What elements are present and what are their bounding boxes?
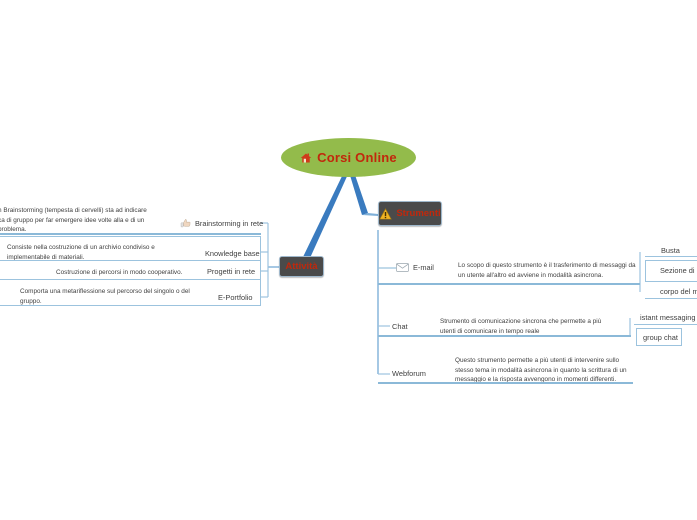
leaf-istant-messaging-label: istant messaging (640, 313, 695, 322)
central-node-label: Corsi Online (317, 150, 397, 165)
leaf-group-chat[interactable]: group chat (643, 333, 678, 342)
istant-messaging-rule (634, 324, 697, 325)
knowledge-base-rule (0, 260, 261, 261)
warning-icon (379, 208, 392, 220)
chat-description: Strumento di comunicazione sincrona che … (440, 317, 610, 336)
email-description: Lo scopo di questo strumento è il trasfe… (458, 261, 640, 280)
progetti-in-rete-rule (0, 279, 261, 280)
chat-rule (378, 335, 631, 337)
branch-node-attivita-label: Attività (285, 261, 317, 272)
branch-node-strumenti-label: Strumenti (396, 208, 440, 219)
branch-node-strumenti[interactable]: Strumenti (378, 201, 442, 226)
leaf-corpo-del-messaggio-label: corpo del m (660, 287, 697, 296)
leaf-progetti-in-rete-label: Progetti in rete (207, 267, 255, 276)
leaf-brainstorming-in-rete[interactable]: Brainstorming in rete (180, 218, 263, 229)
leaf-e-portfolio-label: E-Portfolio (218, 293, 253, 302)
leaf-sezione-di-intestazione[interactable]: Sezione di i (660, 266, 697, 275)
leaf-group-chat-label: group chat (643, 333, 678, 342)
leaf-knowledge-base-label: Knowledge base (205, 249, 260, 258)
email-rule (378, 283, 640, 285)
connector-central-attivita (303, 172, 349, 258)
leaf-email[interactable]: E-mail (396, 263, 434, 272)
leaf-busta-label: Busta (661, 246, 680, 255)
leaf-brainstorming-in-rete-label: Brainstorming in rete (195, 219, 263, 228)
connector-central-strumenti (349, 172, 368, 215)
busta-rule (645, 256, 697, 257)
leaf-sezione-di-intestazione-label: Sezione di i (660, 266, 697, 275)
e-portfolio-description: Comporta una metariflessione sul percors… (20, 287, 192, 306)
leaf-busta[interactable]: Busta (661, 246, 680, 255)
e-portfolio-rule (0, 305, 261, 306)
leaf-email-label: E-mail (413, 263, 434, 272)
leaf-progetti-in-rete[interactable]: Progetti in rete (207, 267, 255, 276)
brainstorming-rule (0, 233, 261, 235)
leaf-corpo-del-messaggio[interactable]: corpo del m (660, 287, 697, 296)
corpo-rule (645, 298, 697, 299)
mindmap-canvas: Corsi Online Attività Strumenti n Brains… (0, 0, 697, 520)
leaf-chat-label: Chat (392, 322, 408, 331)
leaf-webforum[interactable]: Webforum (392, 369, 426, 378)
webforum-description: Questo strumento permette a più utenti d… (455, 356, 633, 385)
house-icon (300, 152, 312, 164)
central-node[interactable]: Corsi Online (281, 138, 416, 177)
brainstorming-description: n Brainstorming (tempesta di cervelli) s… (0, 206, 150, 235)
thumbs-up-icon (180, 218, 191, 229)
webforum-rule (378, 382, 633, 384)
leaf-webforum-label: Webforum (392, 369, 426, 378)
envelope-icon (396, 263, 409, 272)
leaf-knowledge-base[interactable]: Knowledge base (205, 249, 260, 258)
branch-node-attivita[interactable]: Attività (279, 256, 324, 277)
leaf-e-portfolio[interactable]: E-Portfolio (218, 293, 253, 302)
leaf-istant-messaging[interactable]: istant messaging (640, 313, 695, 322)
leaf-chat[interactable]: Chat (392, 322, 408, 331)
connector-strumenti-stub (362, 213, 378, 216)
